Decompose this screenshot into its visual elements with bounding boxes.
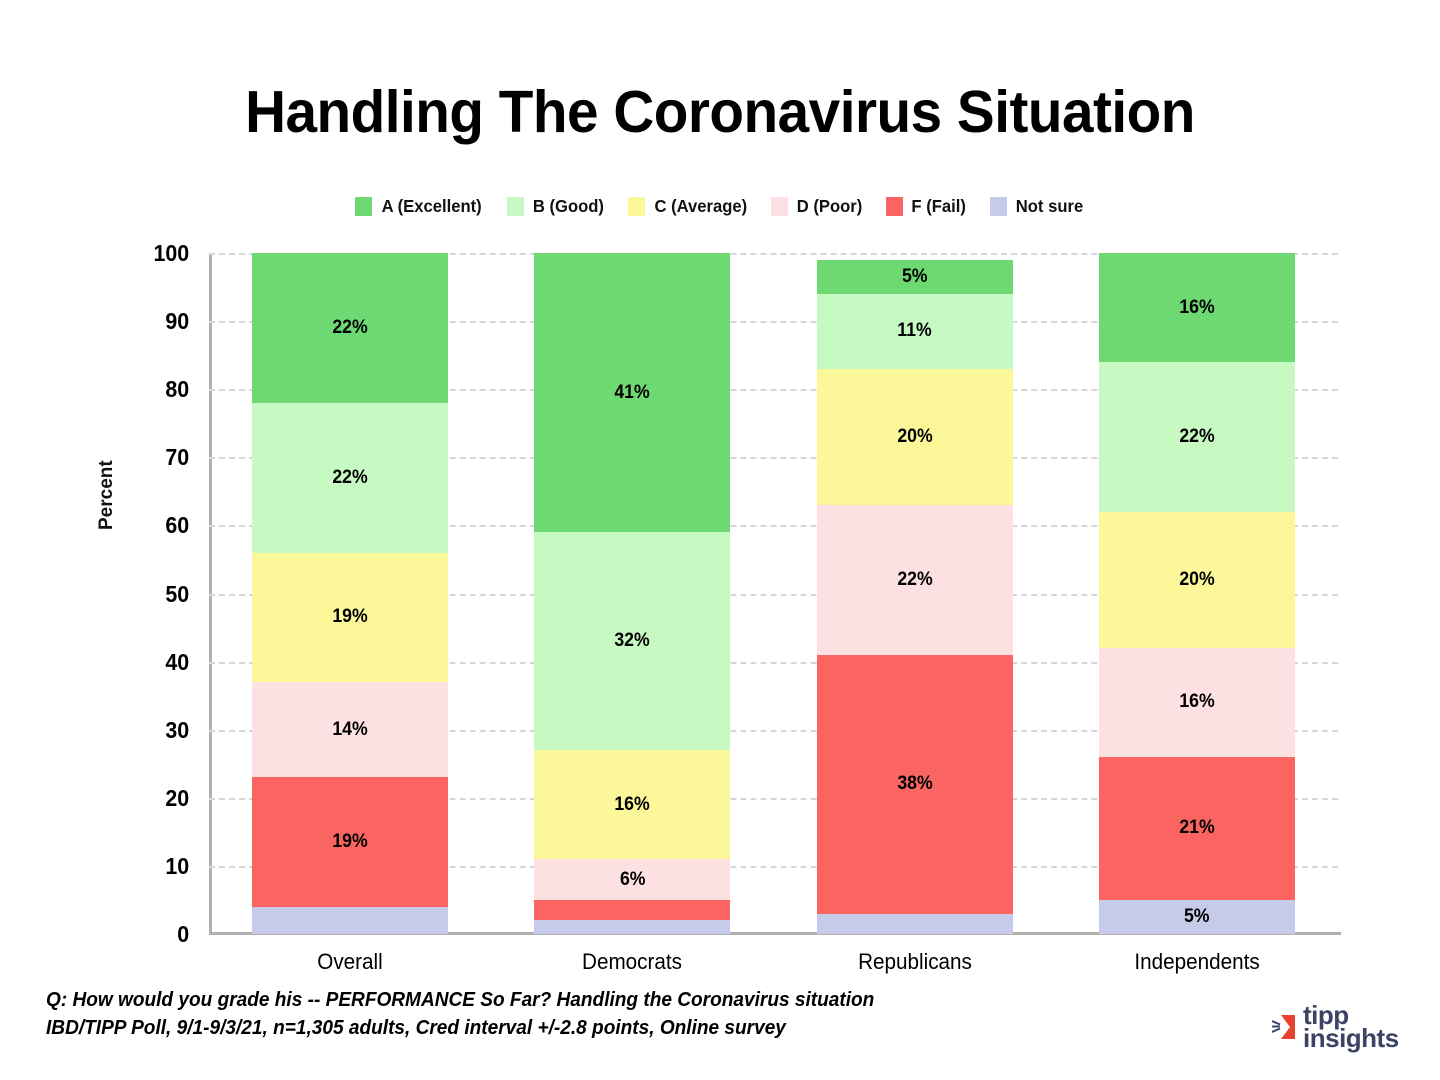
bar-segment-label: 16% bbox=[615, 794, 650, 816]
bar-segment-label: 38% bbox=[897, 773, 932, 795]
legend-not-sure[interactable]: Not sure bbox=[990, 196, 1085, 217]
legend-f-fail-swatch-icon bbox=[886, 197, 903, 216]
bar-segment[interactable]: 16% bbox=[1099, 648, 1295, 757]
legend-a-excellent[interactable]: A (Excellent) bbox=[355, 196, 484, 217]
bar-segment-label: 21% bbox=[1179, 817, 1214, 839]
legend-d-poor-label: D (Poor) bbox=[797, 196, 863, 217]
logo-line-2: insights bbox=[1303, 1027, 1399, 1050]
bar-segment-label: 19% bbox=[332, 831, 367, 853]
bar-segment-label: 32% bbox=[615, 630, 650, 652]
y-axis-tick-90: 90 bbox=[115, 308, 189, 335]
bar-segment[interactable]: 22% bbox=[252, 403, 448, 553]
bar-segment[interactable]: 41% bbox=[534, 253, 730, 532]
bar-group-overall: 19%14%19%22%22% bbox=[252, 253, 448, 934]
bar-segment[interactable]: 20% bbox=[817, 369, 1013, 505]
y-axis-tick-50: 50 bbox=[115, 581, 189, 608]
bar-segment[interactable]: 5% bbox=[817, 260, 1013, 294]
bar-segment-label: 5% bbox=[1184, 906, 1210, 928]
bar-segment-label: 16% bbox=[1179, 297, 1214, 319]
y-axis-tick-70: 70 bbox=[115, 444, 189, 471]
chart-legend: A (Excellent)B (Good)C (Average)D (Poor)… bbox=[0, 196, 1440, 217]
bar-segment[interactable]: 11% bbox=[817, 294, 1013, 369]
bar-segment-label: 16% bbox=[1179, 691, 1214, 713]
y-axis-tick-80: 80 bbox=[115, 376, 189, 403]
y-axis-tick-10: 10 bbox=[115, 853, 189, 880]
bar-segment[interactable]: 21% bbox=[1099, 757, 1295, 900]
bar-segment-label: 11% bbox=[897, 320, 931, 342]
bar-group-democrats: 6%16%32%41% bbox=[534, 253, 730, 934]
legend-d-poor[interactable]: D (Poor) bbox=[771, 196, 864, 217]
legend-not-sure-swatch-icon bbox=[990, 197, 1007, 216]
plot-area: 19%14%19%22%22%6%16%32%41%38%22%20%11%5%… bbox=[209, 253, 1338, 934]
bar-segment[interactable]: 19% bbox=[252, 553, 448, 682]
x-axis-tick-democrats: Democrats bbox=[520, 949, 746, 975]
bar-segment[interactable]: 6% bbox=[534, 859, 730, 900]
bar-segment-label: 19% bbox=[332, 606, 367, 628]
bar-segment-label: 22% bbox=[332, 467, 367, 489]
bar-segment-label: 22% bbox=[897, 569, 932, 591]
page-title: Handling The Coronavirus Situation bbox=[29, 78, 1411, 146]
bar-segment[interactable] bbox=[252, 907, 448, 934]
bar-segment[interactable]: 14% bbox=[252, 682, 448, 777]
legend-f-fail-label: F (Fail) bbox=[912, 196, 966, 217]
y-axis-tick-20: 20 bbox=[115, 785, 189, 812]
footnote-line-1: Q: How would you grade his -- PERFORMANC… bbox=[46, 986, 874, 1014]
x-axis-tick-independents: Independents bbox=[1084, 949, 1310, 975]
bar-segment[interactable]: 20% bbox=[1099, 512, 1295, 648]
bar-segment[interactable]: 22% bbox=[1099, 362, 1295, 512]
legend-c-average-label: C (Average) bbox=[654, 196, 747, 217]
tipp-arrow-icon bbox=[1272, 1012, 1298, 1042]
bar-segment[interactable]: 32% bbox=[534, 532, 730, 750]
y-axis-tick-0: 0 bbox=[115, 921, 189, 948]
y-axis-tick-40: 40 bbox=[115, 649, 189, 676]
bar-segment[interactable]: 16% bbox=[534, 750, 730, 859]
bar-segment[interactable]: 38% bbox=[817, 655, 1013, 914]
bar-group-republicans: 38%22%20%11%5% bbox=[817, 260, 1013, 934]
footnote-line-2: IBD/TIPP Poll, 9/1-9/3/21, n=1,305 adult… bbox=[46, 1014, 874, 1042]
bar-segment-label: 20% bbox=[1179, 569, 1214, 591]
bar-segment[interactable]: 22% bbox=[252, 253, 448, 403]
bar-segment[interactable] bbox=[817, 914, 1013, 934]
bar-segment-label: 14% bbox=[332, 719, 367, 741]
bar-segment-label: 22% bbox=[332, 317, 367, 339]
legend-c-average-swatch-icon bbox=[628, 197, 645, 216]
chart-page: Handling The Coronavirus Situation A (Ex… bbox=[0, 0, 1440, 1080]
y-axis-tick-100: 100 bbox=[115, 240, 189, 267]
legend-d-poor-swatch-icon bbox=[771, 197, 788, 216]
legend-not-sure-label: Not sure bbox=[1015, 196, 1082, 217]
bar-group-independents: 5%21%16%20%22%16% bbox=[1099, 253, 1295, 934]
y-axis-tick-60: 60 bbox=[115, 512, 189, 539]
tipp-insights-logo[interactable]: tipp insights bbox=[1272, 1004, 1399, 1050]
bar-segment-label: 20% bbox=[897, 426, 932, 448]
bar-segment[interactable]: 19% bbox=[252, 777, 448, 906]
legend-a-excellent-label: A (Excellent) bbox=[382, 196, 482, 217]
legend-f-fail[interactable]: F (Fail) bbox=[886, 196, 967, 217]
bar-segment[interactable]: 16% bbox=[1099, 253, 1295, 362]
logo-wordmark: tipp insights bbox=[1303, 1004, 1399, 1050]
legend-b-good-label: B (Good) bbox=[533, 196, 604, 217]
legend-b-good-swatch-icon bbox=[507, 197, 524, 216]
bar-segment[interactable]: 5% bbox=[1099, 900, 1295, 934]
bar-segment-label: 5% bbox=[902, 266, 928, 288]
bar-segment[interactable]: 22% bbox=[817, 505, 1013, 655]
x-axis-tick-overall: Overall bbox=[237, 949, 463, 975]
legend-b-good[interactable]: B (Good) bbox=[507, 196, 606, 217]
bar-segment-label: 41% bbox=[615, 382, 650, 404]
y-axis-tick-30: 30 bbox=[115, 717, 189, 744]
bar-segment[interactable] bbox=[534, 920, 730, 934]
bar-segment-label: 22% bbox=[1179, 426, 1214, 448]
chart-footnote: Q: How would you grade his -- PERFORMANC… bbox=[46, 986, 874, 1043]
legend-c-average[interactable]: C (Average) bbox=[628, 196, 750, 217]
legend-a-excellent-swatch-icon bbox=[355, 197, 372, 216]
x-axis-tick-republicans: Republicans bbox=[802, 949, 1028, 975]
bar-segment[interactable] bbox=[534, 900, 730, 920]
bar-segment-label: 6% bbox=[620, 869, 646, 891]
